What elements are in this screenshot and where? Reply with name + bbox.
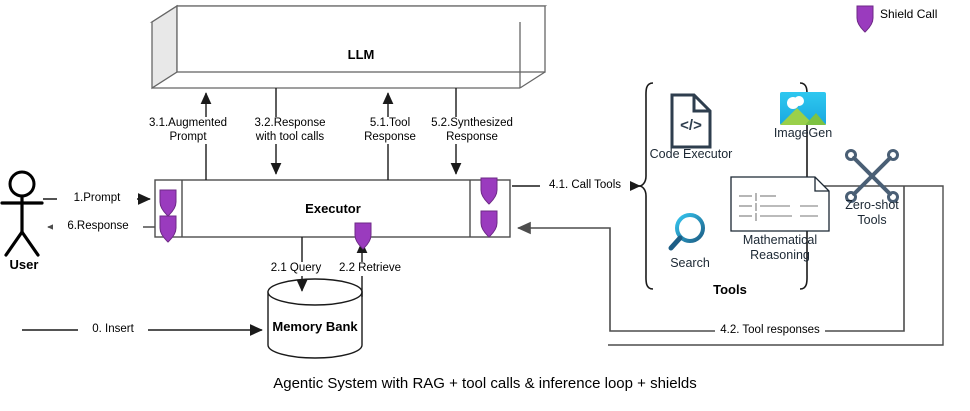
user-actor [2, 172, 42, 255]
llm-label: LLM [277, 47, 445, 62]
shield-icon [355, 223, 371, 249]
user-label: User [0, 257, 48, 272]
magnifier-icon [671, 215, 703, 248]
crossed-wrenches-icon [847, 151, 898, 202]
edge-label-response-tool-calls: 3.2.Response with tool calls [238, 117, 342, 144]
shield-icon [160, 216, 176, 242]
edge-label-call-tools: 4.1. Call Tools [540, 179, 630, 193]
edge-label-response: 6.Response [53, 220, 143, 234]
tool-label-code-executor: Code Executor [645, 147, 737, 162]
edge-label-tool-responses: 4.2. Tool responses [715, 324, 825, 338]
tool-label-math-reasoning: Mathematical Reasoning [730, 233, 830, 263]
edge-label-query: 2.1 Query [262, 262, 330, 276]
edge-label-insert: 0. Insert [78, 323, 148, 337]
tools-group-label: Tools [690, 282, 770, 297]
executor-label: Executor [263, 201, 403, 216]
edge-label-synthesized-response: 5.2.Synthesized Response [427, 117, 517, 144]
shield-icon [857, 6, 873, 32]
diagram-canvas: </> [0, 0, 970, 411]
svg-text:</>: </> [680, 117, 702, 134]
image-picture-icon [780, 92, 826, 125]
edge-label-tool-response: 5.1.Tool Response [350, 117, 430, 144]
diagram-caption: Agentic System with RAG + tool calls & i… [0, 375, 970, 392]
tool-label-imagegen: ImageGen [763, 126, 843, 141]
edge-label-retrieve: 2.2 Retrieve [330, 262, 410, 276]
memory-bank-label: Memory Bank [255, 319, 375, 334]
code-document-icon: </> [672, 95, 710, 147]
tool-label-zero-shot-tools: Zero-shot Tools [834, 198, 910, 228]
tool-label-search: Search [655, 256, 725, 271]
legend-shield-label: Shield Call [880, 8, 960, 22]
edge-label-augmented-prompt: 3.1.Augmented Prompt [140, 117, 236, 144]
edge-label-prompt: 1.Prompt [57, 192, 137, 206]
diagram-vector-layer: </> [0, 0, 970, 411]
formula-document-icon [731, 177, 829, 231]
